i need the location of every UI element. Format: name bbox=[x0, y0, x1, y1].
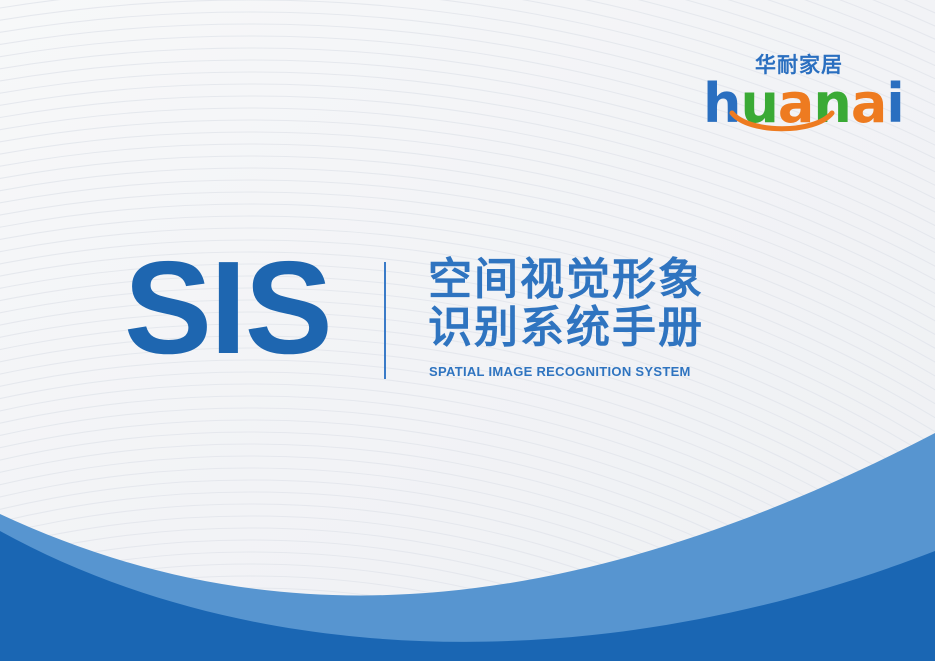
cover-title-block: SIS 空间视觉形象 识别系统手册 SPATIAL IMAGE RECOGNIT… bbox=[0, 248, 935, 398]
title-acronym: SIS bbox=[124, 242, 331, 374]
title-chinese-line-1: 空间视觉形象 bbox=[428, 256, 704, 304]
brand-manual-cover-page: 华耐家居 huanai SIS 空间视觉形象 识别系统手册 SPATIAL IM… bbox=[0, 0, 935, 661]
logo-letter-a2: a bbox=[851, 77, 886, 131]
title-chinese-line-2: 识别系统手册 bbox=[428, 304, 704, 352]
logo-letter-i: i bbox=[886, 77, 904, 131]
logo-smile-arc-icon bbox=[729, 110, 835, 136]
title-divider bbox=[384, 262, 386, 379]
bottom-wave-decoration bbox=[0, 381, 935, 661]
brand-logo: 华耐家居 huanai bbox=[703, 55, 863, 135]
title-english-subtitle: SPATIAL IMAGE RECOGNITION SYSTEM bbox=[429, 364, 691, 379]
